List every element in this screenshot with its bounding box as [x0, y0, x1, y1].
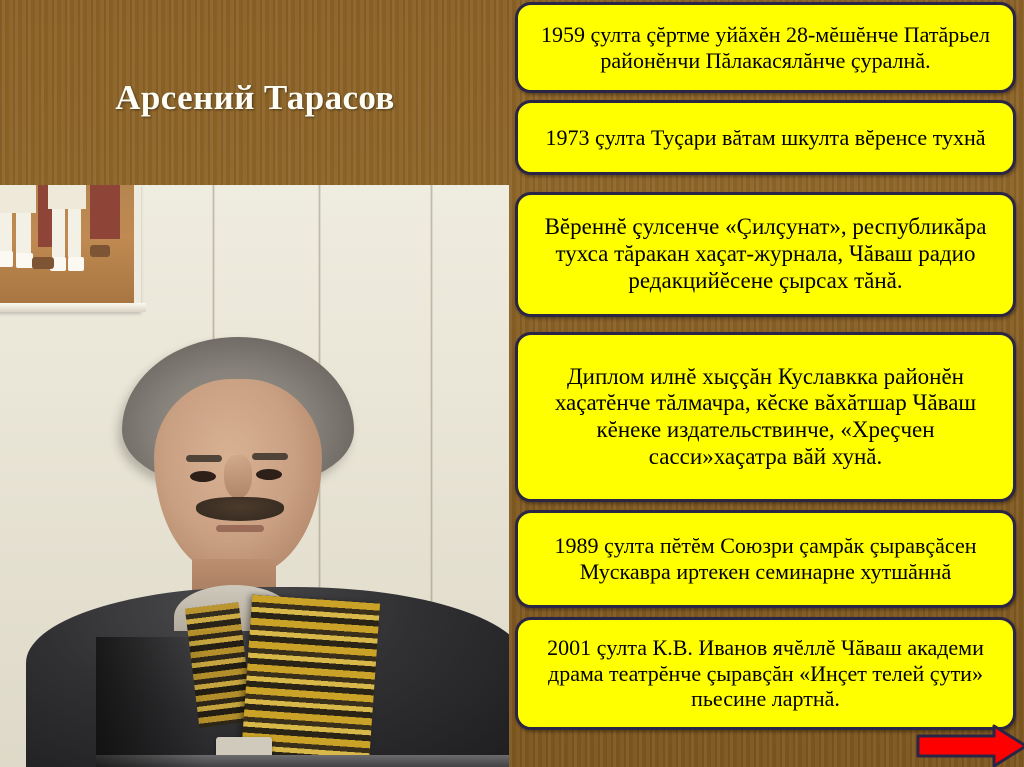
callout-text: 1973 çулта Туçари вăтам шкулта вĕренсе т…: [532, 125, 999, 151]
callout-box-2[interactable]: 1973 çулта Туçари вăтам шкулта вĕренсе т…: [515, 100, 1016, 175]
callout-box-1[interactable]: 1959 çулта çĕртме уйăхĕн 28-мĕшĕнче Патă…: [515, 2, 1016, 93]
callout-text: Диплом илнĕ хыççăн Куславкка районĕн хаç…: [532, 364, 999, 471]
slide-canvas: Арсений Тарасов: [0, 0, 1024, 767]
callout-text: 1989 çулта пĕтĕм Союзри çамрăк çыравçăсе…: [532, 533, 999, 584]
callout-text: Вĕреннĕ çулсенче «Çилçунат», республикăр…: [532, 214, 999, 294]
callout-box-3[interactable]: Вĕреннĕ çулсенче «Çилçунат», республикăр…: [515, 192, 1016, 317]
callout-text: 1959 çулта çĕртме уйăхĕн 28-мĕшĕнче Патă…: [532, 22, 999, 73]
callout-box-4[interactable]: Диплом илнĕ хыççăн Куславкка районĕн хаç…: [515, 332, 1016, 502]
callout-box-6[interactable]: 2001 çулта К.В. Иванов ячĕллĕ Чăваш акад…: [515, 617, 1016, 730]
callout-text: 2001 çулта К.В. Иванов ячĕллĕ Чăваш акад…: [532, 635, 999, 712]
right-arrow-icon[interactable]: [916, 724, 1024, 767]
callout-box-5[interactable]: 1989 çулта пĕтĕм Союзри çамрăк çыравçăсе…: [515, 510, 1016, 608]
callout-list: 1959 çулта çĕртме уйăхĕн 28-мĕшĕнче Патă…: [0, 0, 1024, 767]
